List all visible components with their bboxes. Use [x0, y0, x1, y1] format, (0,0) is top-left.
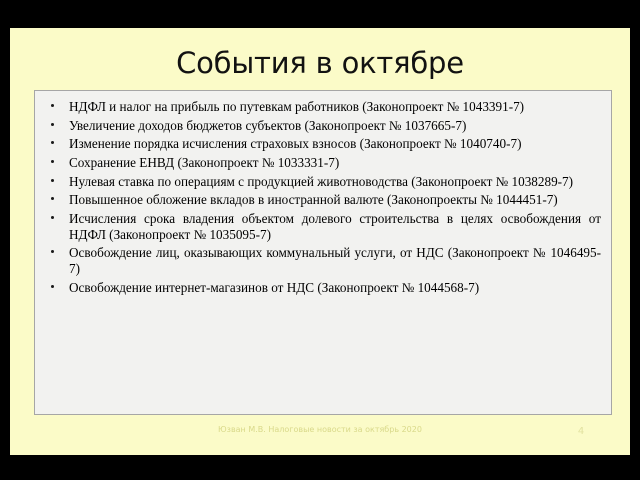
video-viewport: События в октябре НДФЛ и налог на прибыл… [0, 0, 640, 480]
slide-number: 4 [566, 426, 596, 437]
list-item: Освобождение лиц, оказывающих коммунальн… [41, 245, 601, 276]
list-item: Исчисления срока владения объектом долев… [41, 211, 601, 242]
list-item-label: Нулевая ставка по операциям с продукцией… [69, 174, 601, 190]
bullet-point-icon [51, 123, 54, 126]
bullet-point-icon [51, 160, 54, 163]
list-item-label: Увеличение доходов бюджетов субъектов (З… [69, 118, 601, 134]
list-item-label: НДФЛ и налог на прибыль по путевкам рабо… [69, 99, 601, 115]
slide-footer-note: Юзван М.В. Налоговые новости за октябрь … [170, 424, 470, 435]
bullet-point-icon [51, 104, 54, 107]
presentation-slide: События в октябре НДФЛ и налог на прибыл… [10, 28, 630, 455]
page-title: События в октябре [10, 46, 630, 80]
list-item: Сохранение ЕНВД (Законопроект № 1033331-… [41, 155, 601, 171]
list-item: НДФЛ и налог на прибыль по путевкам рабо… [41, 99, 601, 115]
list-item: Нулевая ставка по операциям с продукцией… [41, 174, 601, 190]
bullet-point-icon [51, 250, 54, 253]
bullet-list: НДФЛ и налог на прибыль по путевкам рабо… [41, 99, 601, 295]
list-item-label: Изменение порядка исчисления страховых в… [69, 136, 601, 152]
list-item-label: Освобождение интернет-магазинов от НДС (… [69, 280, 601, 296]
bullet-point-icon [51, 197, 54, 200]
list-item: Изменение порядка исчисления страховых в… [41, 136, 601, 152]
bullet-point-icon [51, 141, 54, 144]
list-item-label: Сохранение ЕНВД (Законопроект № 1033331-… [69, 155, 601, 171]
list-item: Увеличение доходов бюджетов субъектов (З… [41, 118, 601, 134]
bullet-point-icon [51, 179, 54, 182]
content-placeholder-box: НДФЛ и налог на прибыль по путевкам рабо… [34, 90, 612, 415]
list-item: Повышенное обложение вкладов в иностранн… [41, 192, 601, 208]
list-item: Освобождение интернет-магазинов от НДС (… [41, 280, 601, 296]
bullet-point-icon [51, 285, 54, 288]
list-item-label: Освобождение лиц, оказывающих коммунальн… [69, 245, 601, 276]
list-item-label: Исчисления срока владения объектом долев… [69, 211, 601, 242]
list-item-label: Повышенное обложение вкладов в иностранн… [69, 192, 601, 208]
bullet-point-icon [51, 216, 54, 219]
